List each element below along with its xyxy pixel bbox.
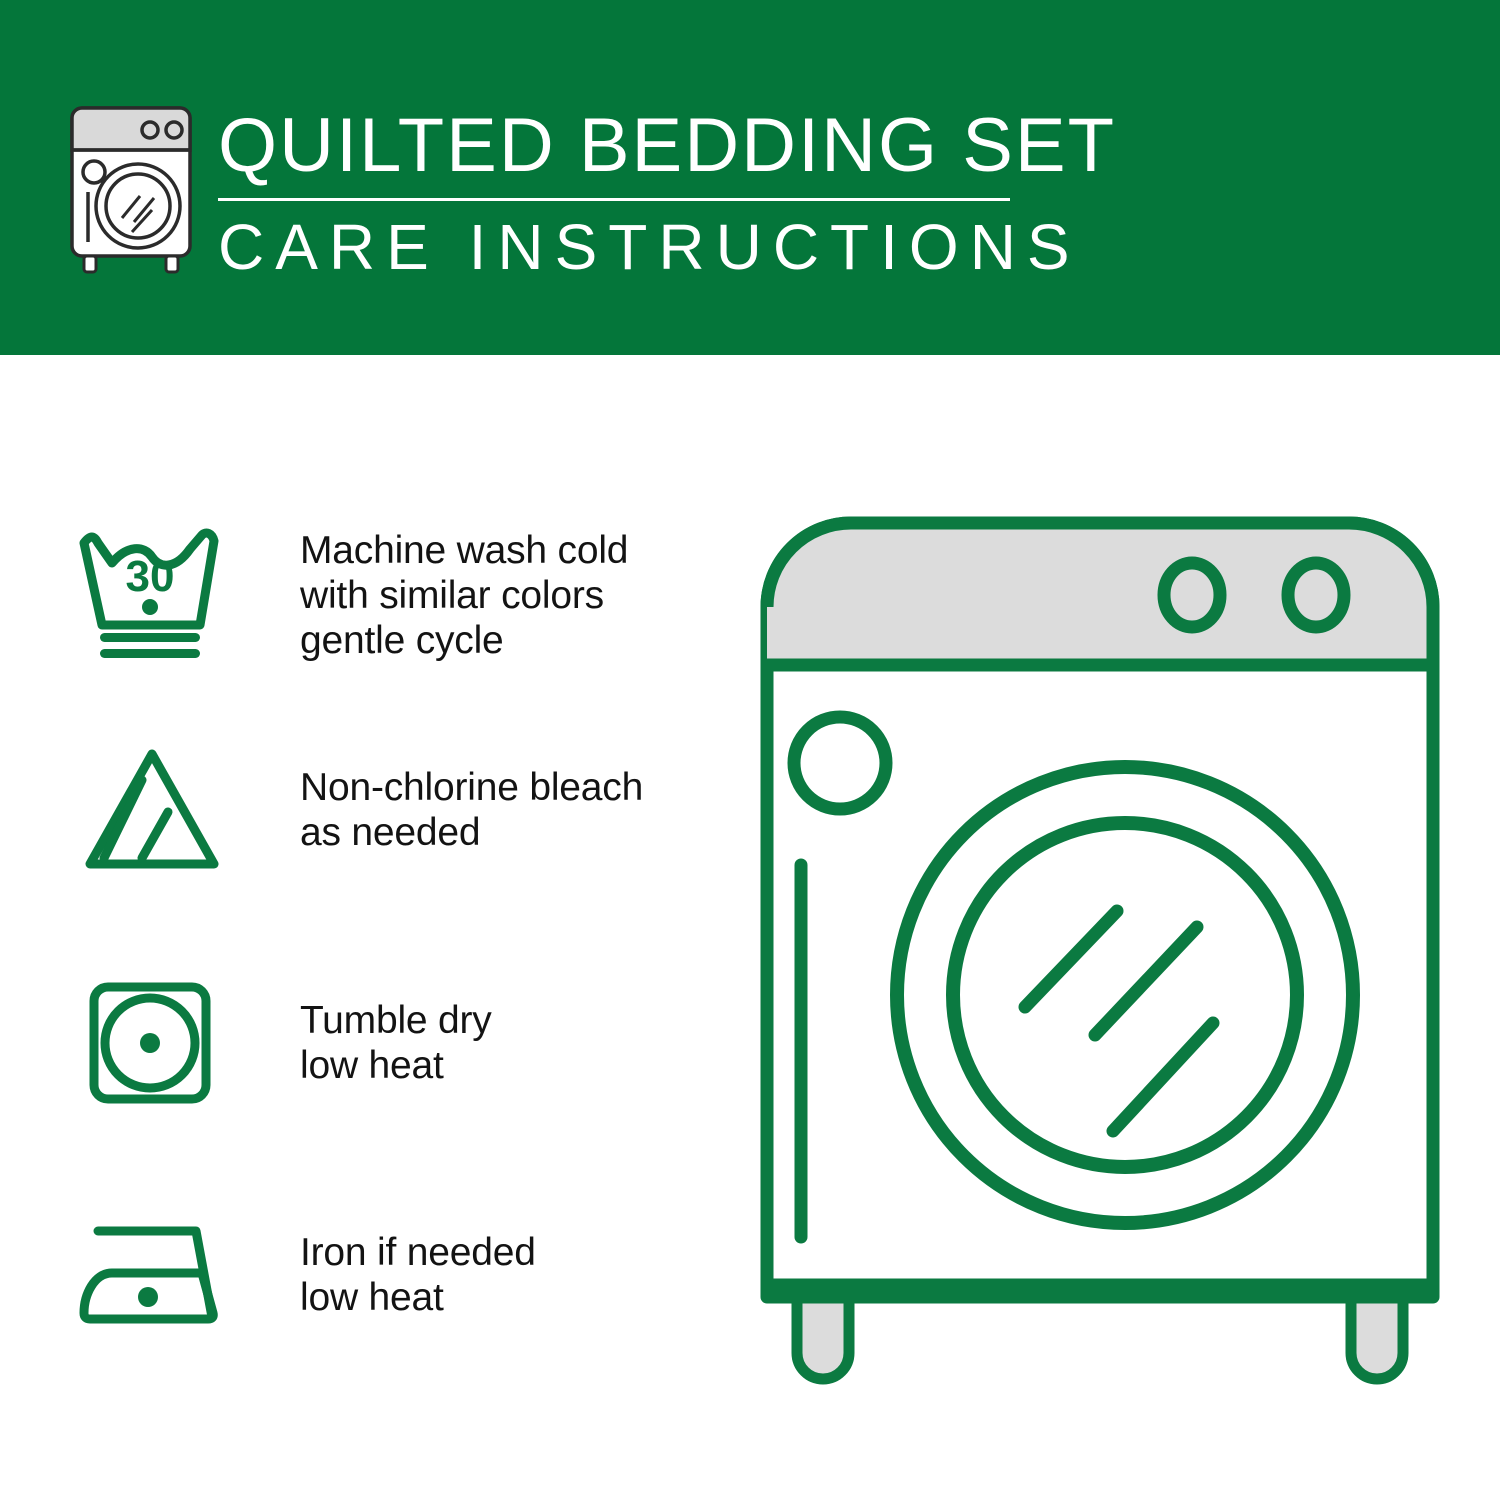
care-row-bleach: Non-chlorine bleach as needed [72,730,712,890]
care-label-machine-wash: Machine wash cold with similar colors ge… [300,528,628,663]
bleach-triangle-non-chlorine-icon [72,730,232,890]
iron-low-heat-icon [72,1195,232,1355]
care-label-bleach: Non-chlorine bleach as needed [300,765,643,855]
care-row-tumble-dry: Tumble dry low heat [72,963,712,1123]
page-subtitle: CARE INSTRUCTIONS [218,209,1218,285]
wash-tub-30-gentle-icon: 30 [72,515,232,675]
care-label-iron: Iron if needed low heat [300,1230,536,1320]
header-banner: QUILTED BEDDING SET CARE INSTRUCTIONS [0,0,1500,355]
washing-machine-logo-icon [62,100,212,275]
title-divider [218,198,1010,201]
care-row-iron: Iron if needed low heat [72,1195,712,1355]
page-title: QUILTED BEDDING SET [218,104,1218,188]
header-text-block: QUILTED BEDDING SET CARE INSTRUCTIONS [218,104,1218,285]
care-instructions-page: QUILTED BEDDING SET CARE INSTRUCTIONS 30 [0,0,1500,1500]
tumble-dry-low-heat-icon [72,963,232,1123]
care-label-tumble-dry: Tumble dry low heat [300,998,492,1088]
wash-temperature-value: 30 [126,552,175,601]
front-load-washing-machine-illustration [745,495,1455,1425]
care-row-machine-wash: 30 Machine wash cold with similar colors… [72,515,712,675]
care-instruction-list: 30 Machine wash cold with similar colors… [0,355,740,1500]
